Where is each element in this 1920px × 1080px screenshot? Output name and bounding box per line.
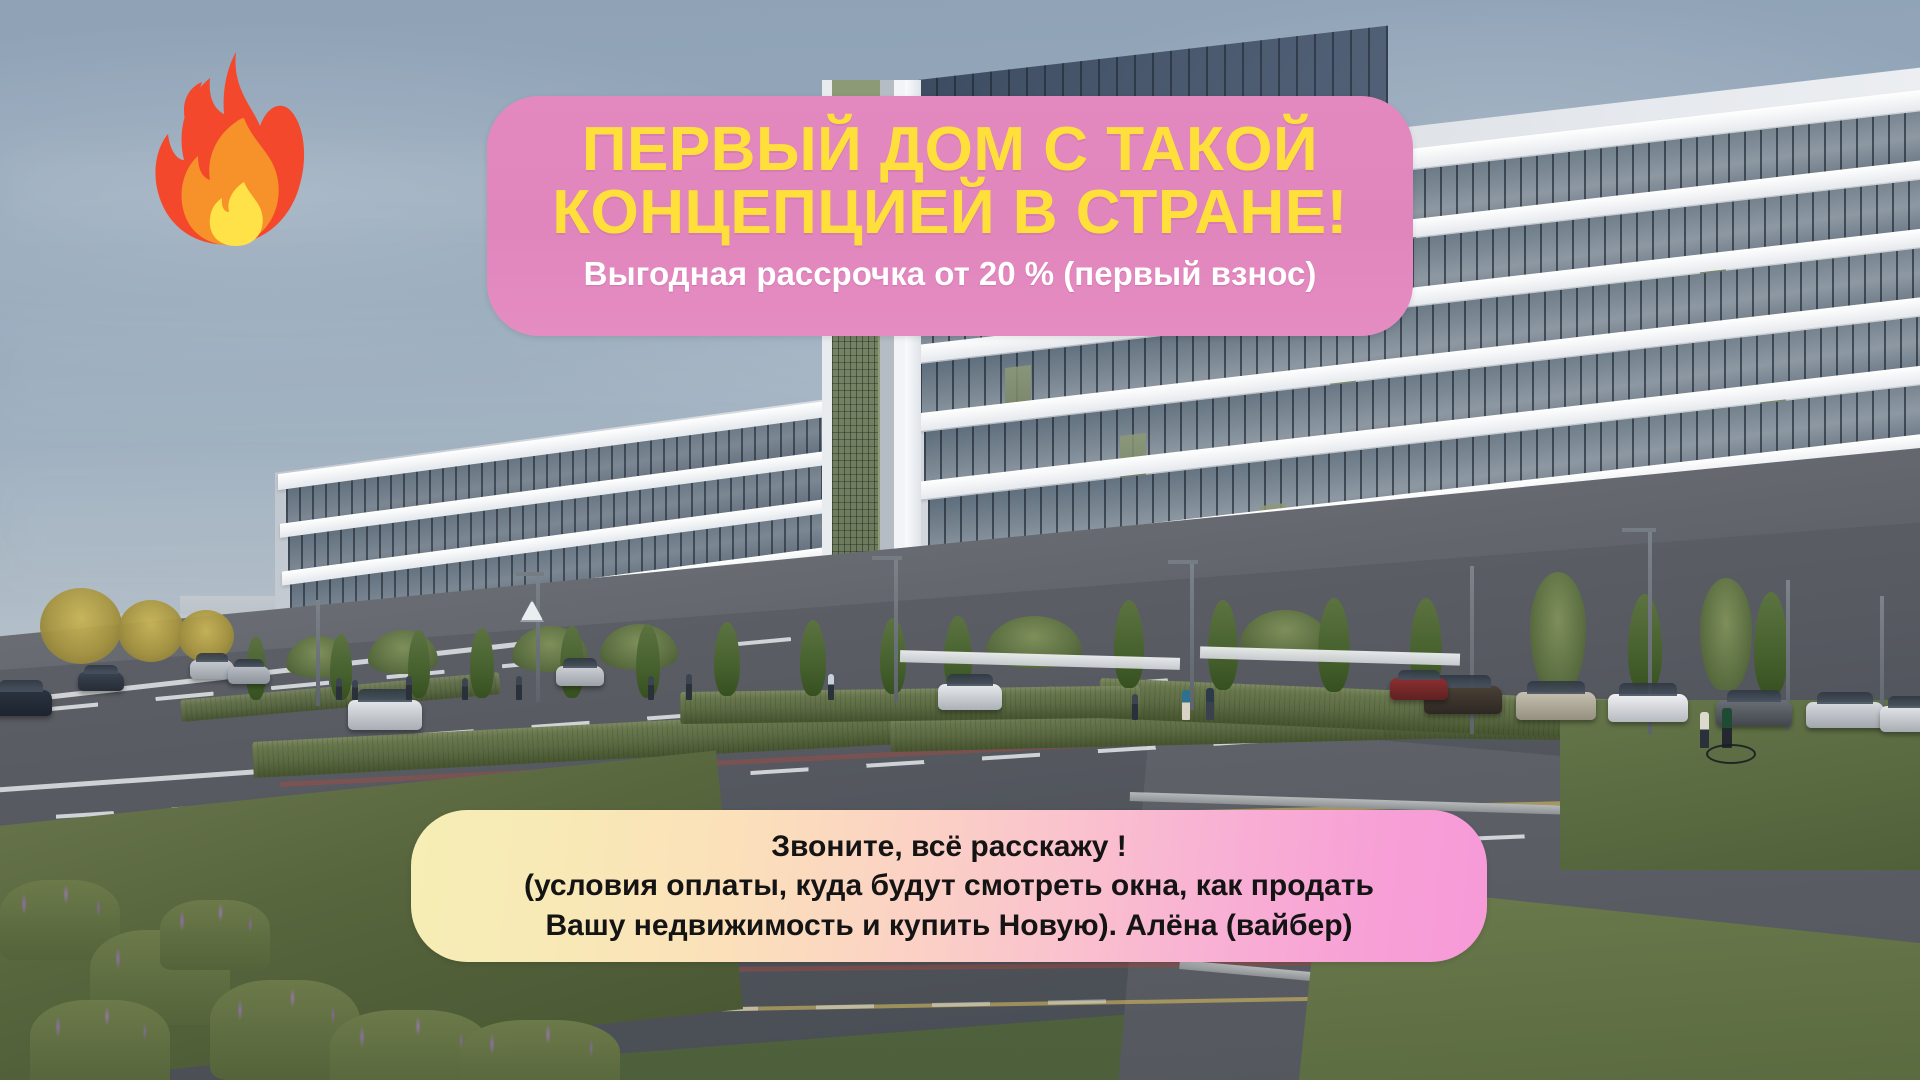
parked-car: [1390, 678, 1448, 700]
contact-line-1: Звоните, всё расскажу !: [771, 827, 1127, 867]
car: [78, 672, 124, 691]
street-tree: [1700, 578, 1752, 690]
pedestrian: [648, 676, 654, 700]
headline-line-1: ПЕРВЫЙ ДОМ С ТАКОЙ: [582, 118, 1318, 181]
parked-car: [1516, 692, 1596, 720]
lavender-patch: [30, 1000, 170, 1080]
autumn-tree: [40, 588, 122, 664]
street-tree: [1530, 572, 1586, 692]
pedestrian: [686, 674, 692, 700]
lavender-patch: [460, 1020, 620, 1080]
street-lamp: [536, 572, 540, 702]
street-lamp-arm: [1168, 560, 1198, 564]
pedestrian: [1700, 712, 1709, 748]
hedge-strip: [680, 686, 1140, 724]
street-lamp: [894, 556, 898, 702]
pedestrian: [1182, 690, 1190, 720]
parked-car: [1880, 706, 1920, 732]
headline-subtitle: Выгодная рассрочка от 20 % (первый взнос…: [584, 256, 1317, 292]
car: [556, 666, 604, 686]
headline-line-2: КОНЦЕПЦИЕЙ В СТРАНЕ!: [552, 181, 1348, 244]
car: [348, 700, 422, 730]
pedestrian: [828, 674, 834, 700]
headline-banner: ПЕРВЫЙ ДОМ С ТАКОЙ КОНЦЕПЦИЕЙ В СТРАНЕ! …: [487, 96, 1413, 336]
parked-car: [1806, 702, 1884, 728]
pedestrian: [336, 678, 342, 700]
pedestrian: [516, 676, 522, 700]
pedestrian: [1206, 688, 1214, 720]
contact-line-3: Вашу недвижимость и купить Новую). Алёна…: [545, 906, 1352, 946]
pedestrian: [462, 678, 468, 700]
lavender-patch: [160, 900, 270, 970]
pedestrian: [352, 680, 358, 700]
street-lamp-arm: [516, 572, 544, 576]
car: [0, 690, 52, 716]
promo-banner-image: ПЕРВЫЙ ДОМ С ТАКОЙ КОНЦЕПЦИЕЙ В СТРАНЕ! …: [0, 0, 1920, 1080]
street-lamp-arm: [1622, 528, 1656, 532]
pedestrian: [406, 676, 412, 700]
car: [228, 666, 270, 684]
street-lamp-arm: [872, 556, 902, 560]
parked-car: [1608, 694, 1688, 722]
fire-emoji: [140, 48, 320, 284]
car: [938, 684, 1002, 710]
autumn-tree: [118, 600, 184, 662]
street-lamp: [316, 600, 320, 706]
pedestrian: [1132, 694, 1138, 720]
cyclist: [1722, 708, 1732, 748]
bicycle: [1706, 744, 1756, 764]
contact-callout-box: Звоните, всё расскажу ! (условия оплаты,…: [411, 810, 1487, 962]
street-lamp: [1190, 560, 1194, 710]
contact-line-2: (условия оплаты, куда будут смотреть окн…: [524, 866, 1374, 906]
